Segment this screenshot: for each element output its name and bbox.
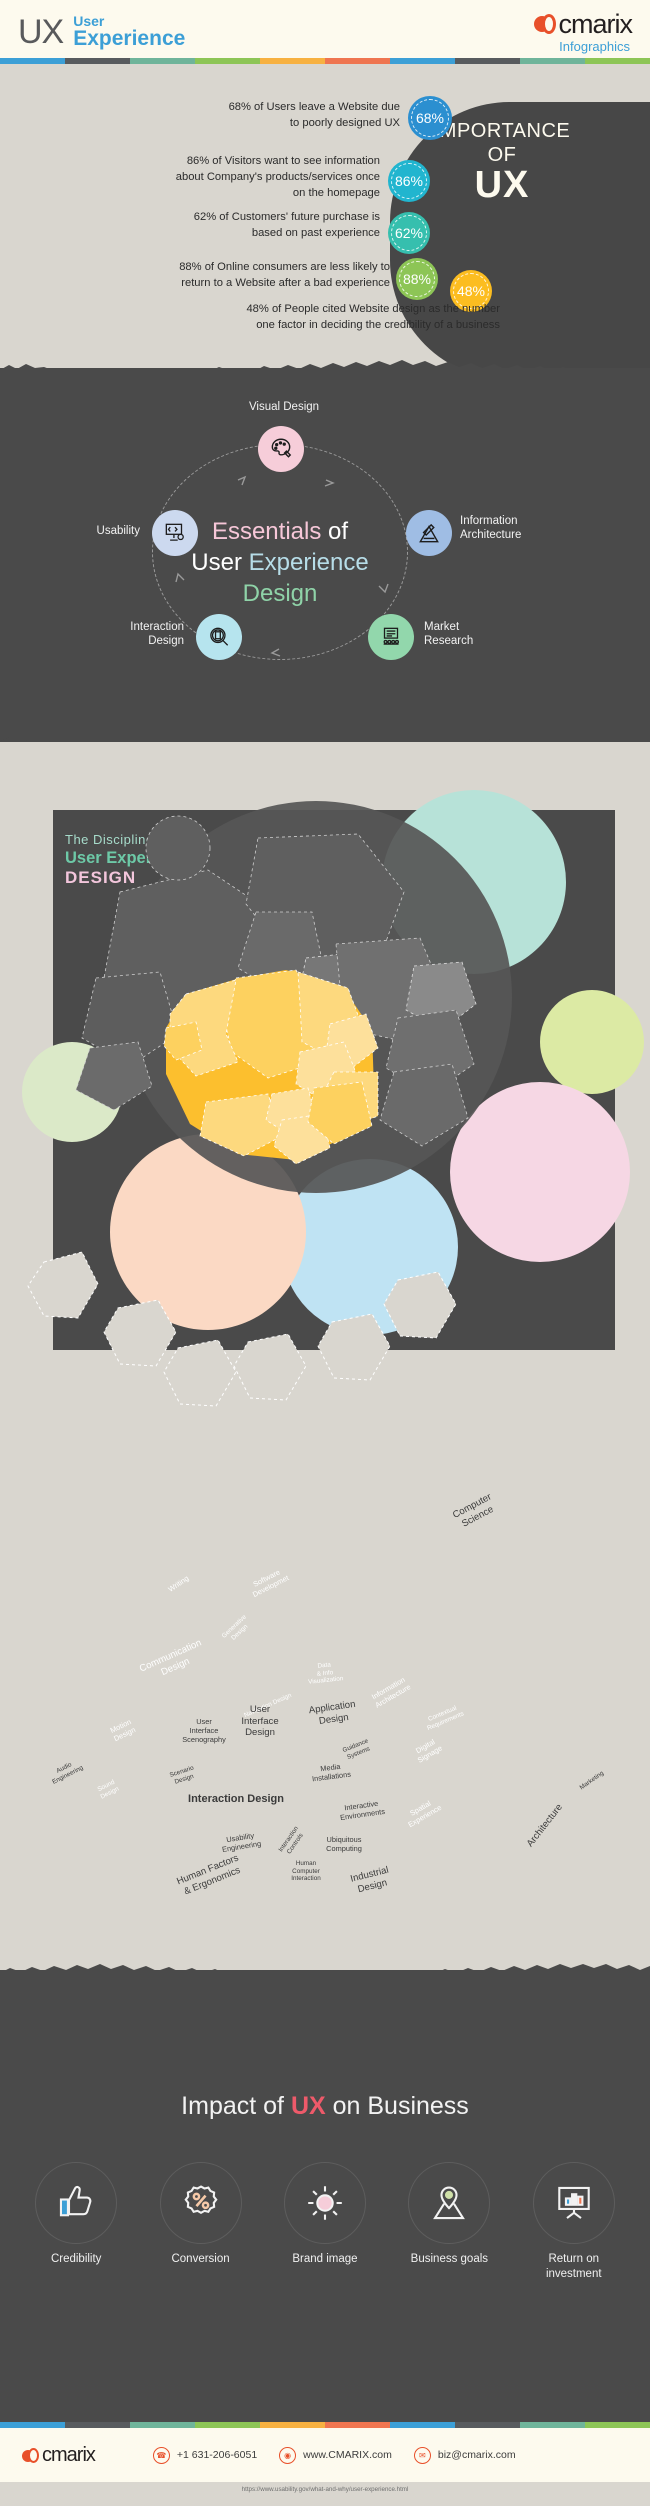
presentation-chart-icon [553, 2182, 595, 2224]
impact-items-row: Credibility Conversion [0, 2162, 650, 2281]
sun-brand-icon [304, 2182, 346, 2224]
stat-bubble-2: 86% [388, 160, 430, 202]
impact-circle-brand-image [284, 2162, 366, 2244]
stat-text-5: 48% of People cited Website design as th… [60, 302, 500, 334]
essentials-title-experience: Experience [249, 549, 369, 576]
footer-email-text: biz@cmarix.com [438, 2449, 516, 2461]
impact-circle-roi [533, 2162, 615, 2244]
impact-item-conversion[interactable]: Conversion [147, 2162, 255, 2281]
stat-bubble-value-1: 68% [416, 110, 444, 126]
essentials-title-row1: Essentials of [130, 516, 430, 547]
node-label-visual-design: Visual Design [224, 400, 344, 414]
stat-bubble-3: 62% [388, 212, 430, 254]
essentials-title-user: User [191, 549, 248, 576]
stat-bubble-value-3: 62% [395, 225, 423, 241]
market-research-icon [378, 624, 404, 650]
essentials-section: Visual Design Information Architecture M… [0, 368, 650, 742]
cell-writing [146, 816, 210, 880]
impact-label-credibility: Credibility [22, 2252, 130, 2267]
impact-item-brand-image[interactable]: Brand image [271, 2162, 379, 2281]
envelope-icon: ✉ [414, 2447, 431, 2464]
cmarix-wordmark: cmarix [559, 11, 633, 38]
footer-phone[interactable]: ☎ +1 631-206-6051 [153, 2447, 257, 2464]
footer-contacts: ☎ +1 631-206-6051 ◉ www.CMARIX.com ✉ biz… [153, 2447, 516, 2464]
cmarix-subtitle: Infographics [559, 39, 630, 54]
hex-cognitive-science [164, 1340, 236, 1406]
impact-title-pre: Impact of [181, 2092, 291, 2120]
impact-circle-business-goals [408, 2162, 490, 2244]
impact-circle-credibility [35, 2162, 117, 2244]
impact-label-business-goals: Business goals [395, 2252, 503, 2267]
importance-section: IMPORTANCE OF UX 68% of Users leave a We… [0, 64, 650, 360]
stat-bubble-value-4: 88% [403, 271, 431, 287]
footer-logo[interactable]: cmarix [22, 2445, 95, 2465]
node-label-usability: Usability [36, 524, 140, 538]
cmarix-mark-icon [534, 14, 556, 34]
disciplines-section: The Disciplines of User Experience DESIG… [0, 742, 650, 1970]
header-title-experience: Experience [73, 28, 185, 49]
essentials-title: Essentials of User Experience Design [130, 516, 430, 610]
hex-sociology [28, 1252, 98, 1318]
impact-item-business-goals[interactable]: Business goals [395, 2162, 503, 2281]
globe-icon: ◉ [279, 2447, 296, 2464]
stat-bubble-4: 88% [396, 258, 438, 300]
footer-phone-text: +1 631-206-6051 [177, 2449, 257, 2461]
stat-bubble-value-2: 86% [395, 173, 423, 189]
stat-text-3: 62% of Customers' future purchase is bas… [50, 210, 380, 242]
hex-philosophy [234, 1334, 306, 1400]
impact-title-ux: UX [291, 2092, 326, 2120]
impact-item-credibility[interactable]: Credibility [22, 2162, 130, 2281]
stat-text-2: 86% of Visitors want to see information … [50, 154, 380, 202]
node-interaction-design[interactable] [196, 614, 242, 660]
page-footer: cmarix ☎ +1 631-206-6051 ◉ www.CMARIX.co… [0, 2428, 650, 2482]
footer-email[interactable]: ✉ biz@cmarix.com [414, 2447, 516, 2464]
impact-title: Impact of UX on Business [0, 2092, 650, 2121]
impact-label-brand-image: Brand image [271, 2252, 379, 2267]
impact-item-roi[interactable]: Return on investment [520, 2162, 628, 2281]
impact-title-post: on Business [326, 2092, 469, 2120]
impact-section: Impact of UX on Business Credibility [0, 1970, 650, 2422]
node-label-market-research: Market Research [424, 620, 544, 649]
header-right: cmarix Infographics [534, 11, 633, 54]
node-label-information-architecture: Information Architecture [460, 514, 590, 543]
stat-text-1: 68% of Users leave a Website due to poor… [100, 100, 400, 132]
footer-website-text: www.CMARIX.com [303, 2449, 392, 2461]
magnifier-doc-icon [206, 624, 232, 650]
essentials-title-of: of [321, 518, 348, 545]
header-title-group: User Experience [73, 14, 185, 50]
stat-bubble-value-5: 48% [457, 283, 485, 299]
node-label-interaction-design: Interaction Design [72, 620, 184, 649]
circle-marketing [540, 990, 644, 1094]
thumbs-up-icon [55, 2182, 97, 2224]
stat-bubble-1: 68% [408, 96, 452, 140]
impact-label-conversion: Conversion [147, 2252, 255, 2267]
essentials-title-row2: User Experience [130, 547, 430, 578]
palette-icon [268, 436, 294, 462]
essentials-title-design: Design [130, 578, 430, 609]
impact-label-roi: Return on investment [520, 2252, 628, 2281]
circle-architecture [450, 1082, 630, 1262]
phone-icon: ☎ [153, 2447, 170, 2464]
ux-logo-mark: UX [18, 15, 63, 49]
cmarix-logo[interactable]: cmarix [534, 11, 633, 38]
header-title-user: User [73, 14, 185, 28]
map-pin-icon [428, 2182, 470, 2224]
footer-brand-name: cmarix [42, 2445, 95, 2465]
node-visual-design[interactable] [258, 426, 304, 472]
infographic-page: UX User Experience cmarix Infographics I… [0, 0, 650, 2506]
footer-website[interactable]: ◉ www.CMARIX.com [279, 2447, 392, 2464]
percent-badge-icon [180, 2182, 222, 2224]
essentials-title-essentials: Essentials [212, 518, 321, 545]
impact-circle-conversion [160, 2162, 242, 2244]
disciplines-venn [0, 742, 650, 1970]
page-header: UX User Experience cmarix Infographics [0, 0, 650, 64]
stat-text-4: 88% of Online consumers are less likely … [50, 260, 390, 292]
importance-title-line3: UX [412, 163, 592, 208]
source-url: https://www.usability.gov/what-and-why/u… [0, 2486, 650, 2493]
node-market-research[interactable] [368, 614, 414, 660]
footer-cmarix-mark-icon [22, 2448, 39, 2463]
header-left: UX User Experience [18, 14, 185, 50]
